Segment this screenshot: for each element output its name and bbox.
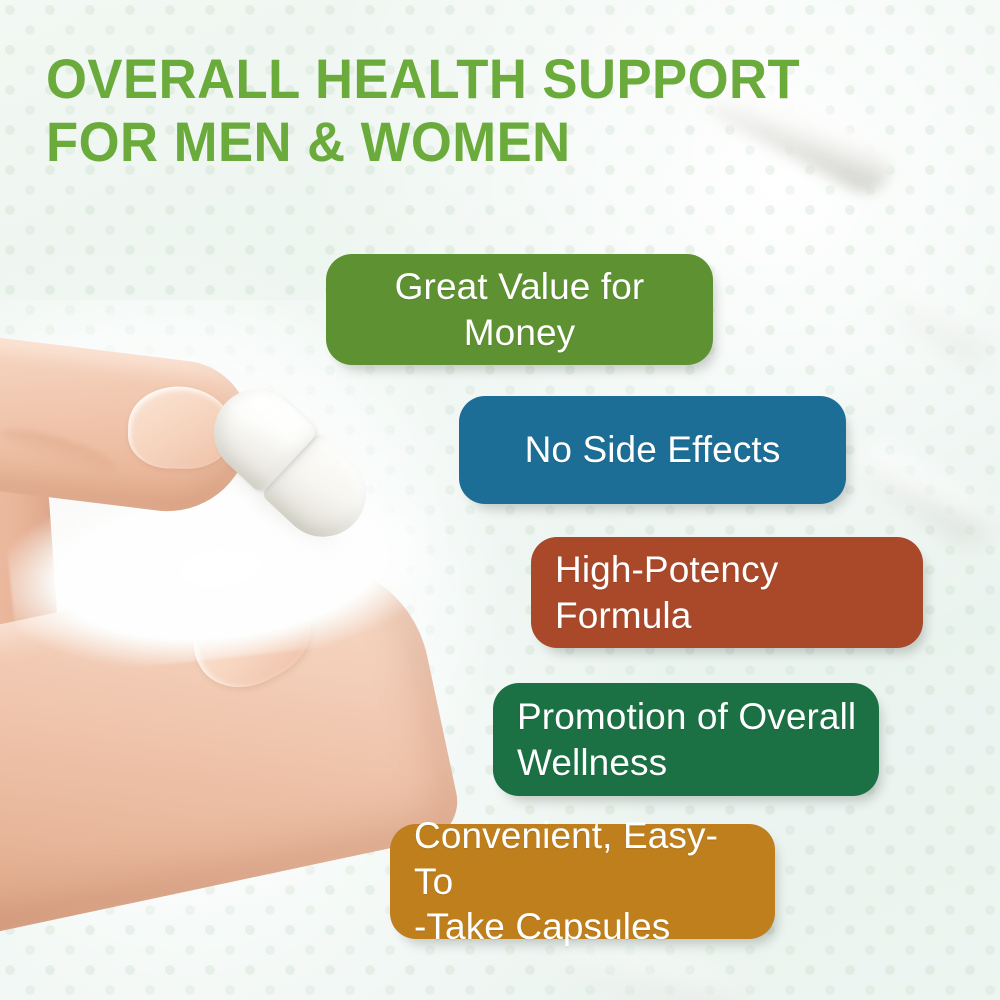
benefit-badge-4[interactable]: Promotion of Overall Wellness [493, 683, 879, 796]
benefit-badge-label: No Side Effects [525, 427, 781, 473]
benefit-badge-5[interactable]: Convenient, Easy-To -Take Capsules [390, 824, 775, 939]
promo-graphic: OVERALL HEALTH SUPPORT FOR MEN & WOMEN G… [0, 0, 1000, 1000]
benefit-badge-label: Great Value for Money [348, 264, 691, 356]
benefit-badge-label: Convenient, Easy-To -Take Capsules [414, 813, 753, 951]
benefit-badge-1[interactable]: Great Value for Money [326, 254, 713, 365]
benefit-badge-3[interactable]: High-Potency Formula [531, 537, 923, 648]
benefit-badge-2[interactable]: No Side Effects [459, 396, 846, 504]
hand-holding-capsule-image [0, 330, 460, 890]
thumb-crease [0, 421, 120, 481]
benefit-badge-label: Promotion of Overall Wellness [517, 694, 856, 786]
benefit-badge-label: High-Potency Formula [555, 547, 901, 639]
page-title: OVERALL HEALTH SUPPORT FOR MEN & WOMEN [46, 48, 826, 173]
